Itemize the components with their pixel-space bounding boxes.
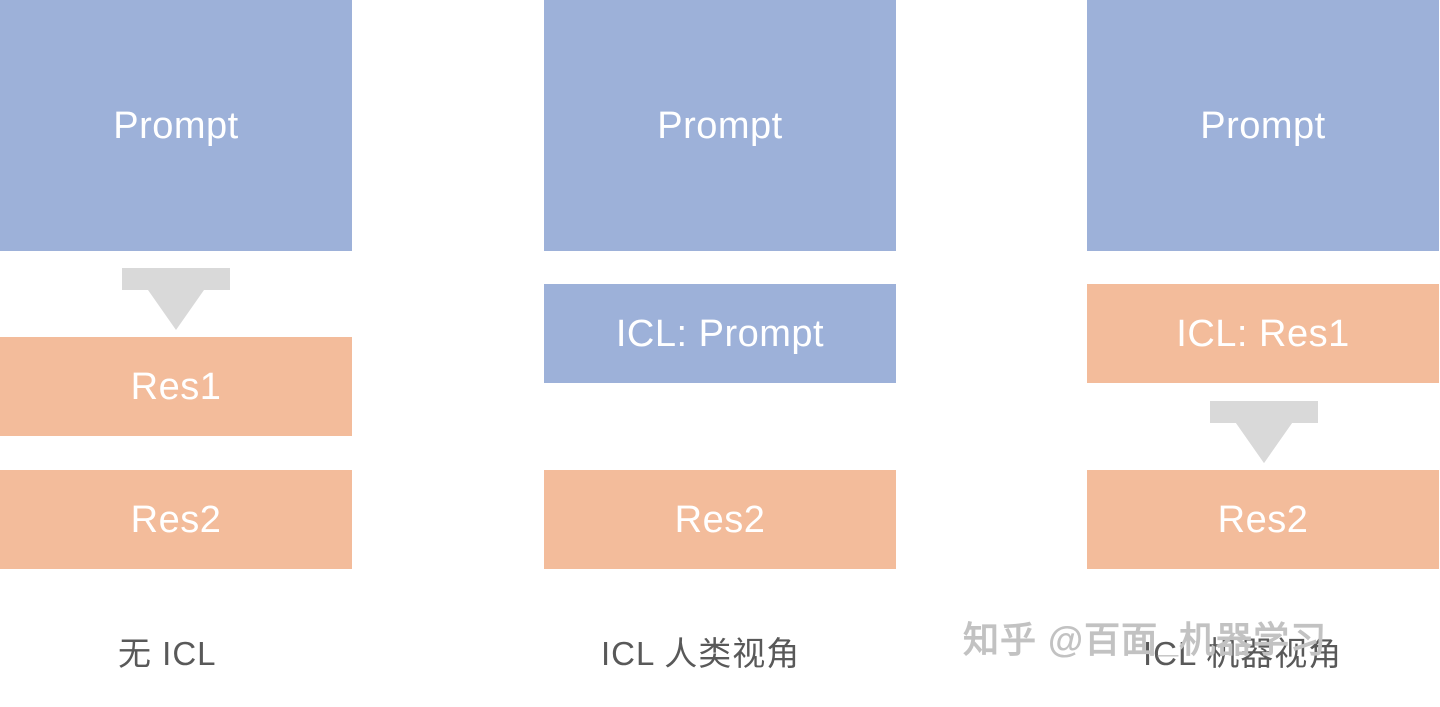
box-icl-prompt-col2: ICL: Prompt — [544, 284, 896, 383]
box-prompt-col2: Prompt — [544, 0, 896, 251]
arrow-down-icon-col3 — [1210, 401, 1318, 463]
box-res2-col2: Res2 — [544, 470, 896, 569]
box-res2-col1: Res2 — [0, 470, 352, 569]
box-res2-col3: Res2 — [1087, 470, 1439, 569]
box-res1-col1: Res1 — [0, 337, 352, 436]
arrow-down-icon-col1 — [122, 268, 230, 330]
caption-col2: ICL 人类视角 — [601, 637, 800, 670]
diagram-canvas: Prompt Res1 Res2 无 ICL Prompt ICL: Promp… — [0, 0, 1440, 707]
box-prompt-col3: Prompt — [1087, 0, 1439, 251]
caption-col1: 无 ICL — [118, 637, 217, 670]
box-icl-res1-col3: ICL: Res1 — [1087, 284, 1439, 383]
watermark-handle: @百面_机器学习 — [1037, 619, 1327, 660]
watermark-site: 知乎 — [963, 619, 1037, 660]
box-prompt-col1: Prompt — [0, 0, 352, 251]
watermark: 知乎 @百面_机器学习 — [963, 622, 1327, 658]
